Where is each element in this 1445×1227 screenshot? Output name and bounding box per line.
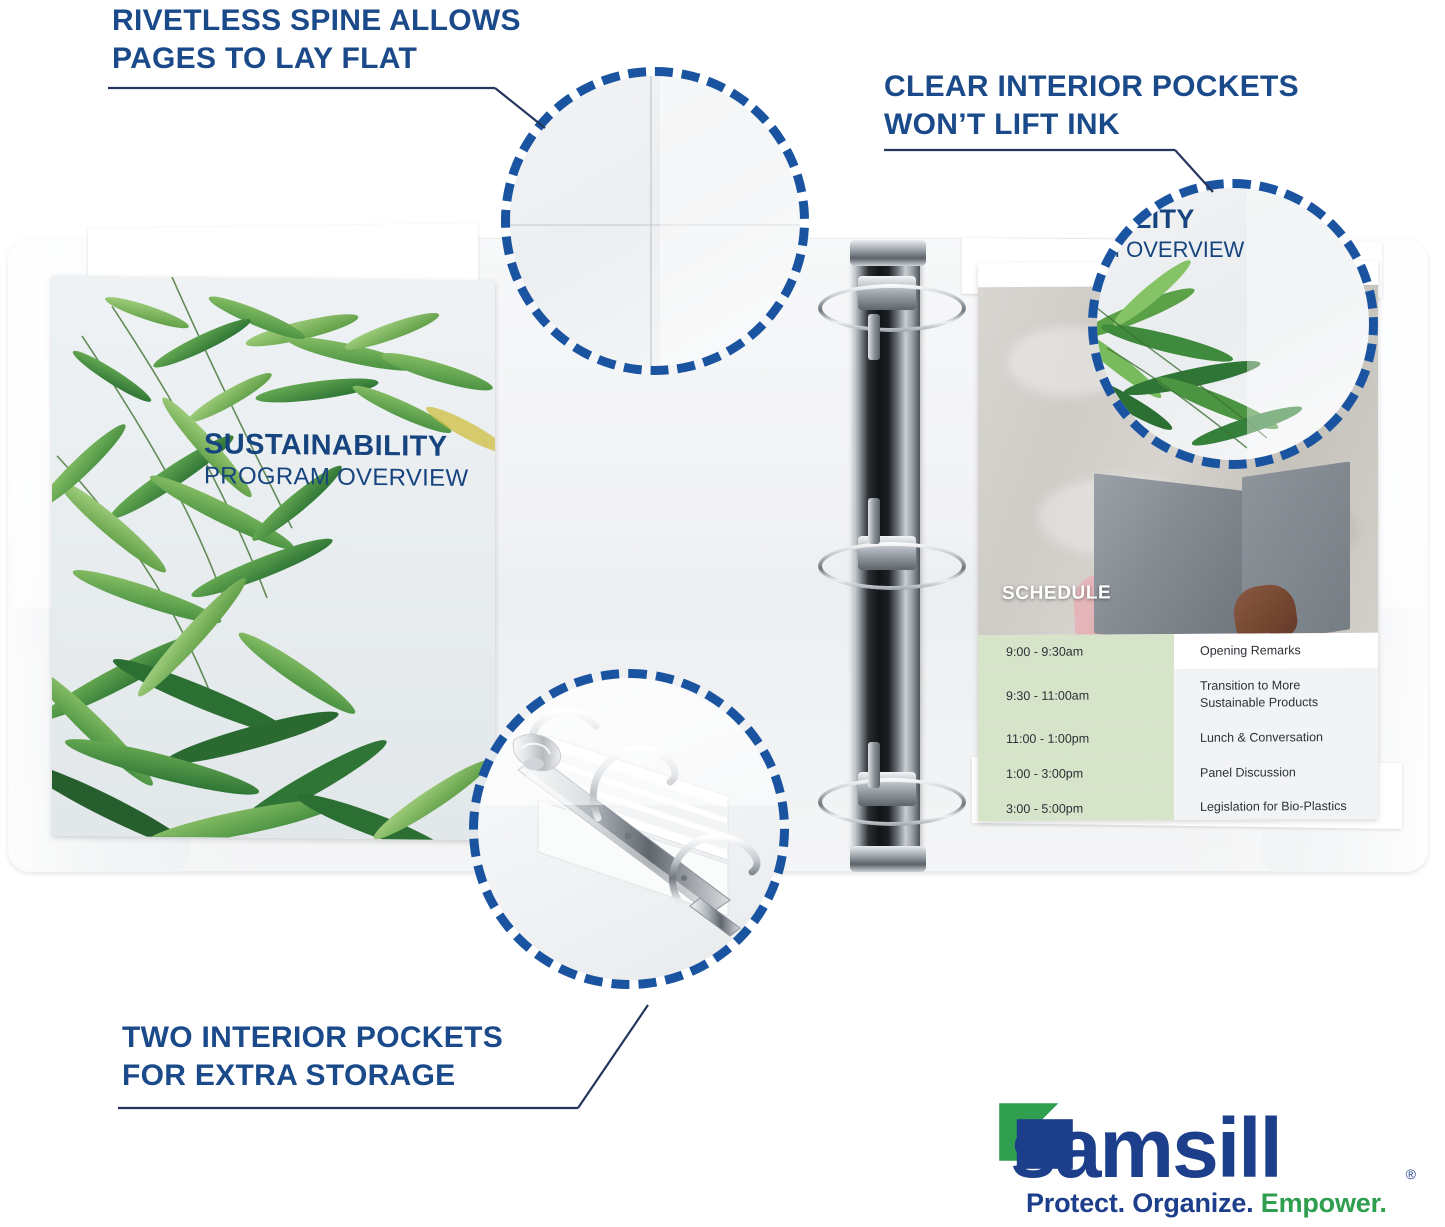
callout-clear-pockets-text: CLEAR INTERIOR POCKETS WON’T LIFT INK [884, 68, 1384, 143]
callout-clear-pockets: CLEAR INTERIOR POCKETS WON’T LIFT INK [884, 68, 1384, 143]
product-feature-graphic: SUSTAINABILITY PROGRAM OVERVIEW SCHE [0, 0, 1445, 1227]
samsill-tagline: Protect. Organize. Empower. [1026, 1188, 1387, 1219]
callout-two-pockets: TWO INTERIOR POCKETS FOR EXTRA STORAGE [122, 1019, 642, 1094]
tagline-protect-organize: Protect. Organize. [1026, 1188, 1253, 1218]
registered-trademark-symbol: ® [1406, 1166, 1416, 1182]
callout-two-pockets-text: TWO INTERIOR POCKETS FOR EXTRA STORAGE [122, 1019, 642, 1094]
samsill-wordmark: samsill [1010, 1106, 1281, 1190]
tagline-empower: Empower. [1253, 1188, 1386, 1218]
samsill-logo: samsill ® Protect. Organize. Empower. [996, 1100, 1416, 1220]
